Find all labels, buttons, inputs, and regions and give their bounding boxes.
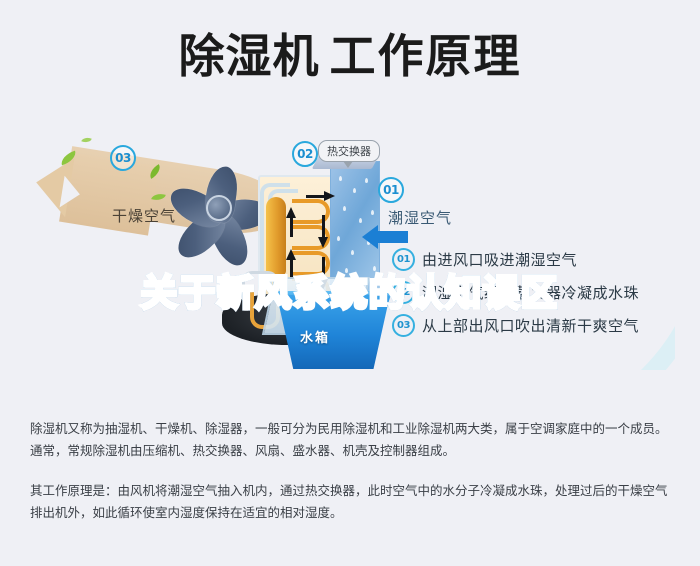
diagram-badge-03: 03 bbox=[110, 145, 136, 171]
flow-arrow-down bbox=[318, 237, 328, 248]
flow-arrow-stem bbox=[306, 195, 324, 198]
diagram-badge-02: 02 bbox=[292, 141, 318, 167]
air-intake-arrow bbox=[378, 231, 408, 243]
flow-arrow-right bbox=[324, 191, 335, 201]
step-number: 03 bbox=[392, 314, 415, 337]
overlay-headline: 关于新风系统的认知误区 bbox=[0, 264, 700, 316]
page-title: 除湿机工作原理 bbox=[0, 26, 700, 86]
humid-air-label: 潮湿空气 bbox=[388, 207, 452, 228]
diagram-badge-01: 01 bbox=[378, 177, 404, 203]
leaf-icon bbox=[81, 136, 92, 145]
infographic-page: 除湿机工作原理 bbox=[0, 0, 700, 566]
page-title-part2: 工作原理 bbox=[330, 29, 522, 83]
dry-air-label: 干燥空气 bbox=[112, 205, 176, 226]
fan-hub bbox=[206, 195, 232, 221]
flow-arrow-up bbox=[286, 207, 296, 218]
water-tank-label: 水箱 bbox=[300, 327, 330, 346]
body-paragraph-2: 其工作原理是：由风机将潮湿空气抽入机内，通过热交换器，此时空气中的水分子冷凝成水… bbox=[30, 480, 676, 524]
body-copy: 除湿机又称为抽湿机、干燥机、除湿器，一般可分为民用除湿机和工业除湿机两大类，属于… bbox=[30, 418, 676, 524]
flow-arrow-stem bbox=[290, 215, 293, 237]
step-text: 从上部出风口吹出清新干爽空气 bbox=[422, 315, 639, 336]
page-title-part1: 除湿机 bbox=[179, 29, 320, 83]
overlay-headline-text: 关于新风系统的认知误区 bbox=[141, 273, 559, 314]
heat-exchanger-callout: 热交换器 bbox=[318, 140, 380, 162]
flow-arrow-up bbox=[286, 249, 296, 260]
flow-arrow-stem bbox=[322, 215, 325, 237]
body-paragraph-1: 除湿机又称为抽湿机、干燥机、除湿器，一般可分为民用除湿机和工业除湿机两大类，属于… bbox=[30, 418, 676, 462]
